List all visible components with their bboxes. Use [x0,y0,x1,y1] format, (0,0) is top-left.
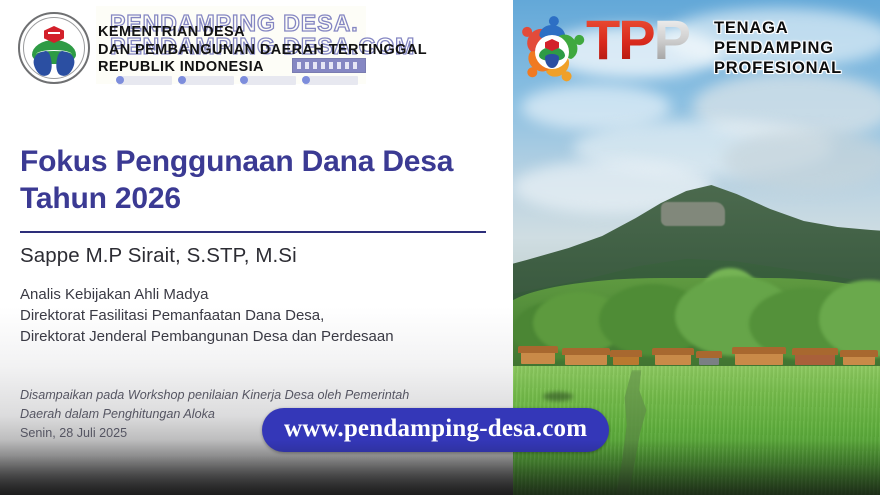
tpp-tagline-line-3: PROFESIONAL [714,58,842,78]
house [795,354,835,365]
field-patch [543,392,573,401]
title-block: Fokus Penggunaan Dana Desa Tahun 2026 Sa… [20,143,490,347]
footnote-suffix: penilaian Kinerja Desa oleh Pemerintah [185,388,410,402]
house [699,357,719,365]
house [521,352,555,364]
watermark-nav-chip [304,76,358,85]
tpp-people-circle-icon [518,18,586,86]
presenter-name: Sappe M.P Sirait, S.STP, M.Si [20,244,490,268]
presentation-slide: PENDAMPING DESA. PENDAMPING DESA.COM [0,0,880,495]
house [843,356,875,365]
ministry-line-2: DAN PEMBANGUNAN DAERAH TERTINGGAL [98,42,498,60]
ministry-name: KEMENTRIAN DESA DAN PEMBANGUNAN DAERAH T… [98,24,498,77]
website-url-banner[interactable]: www.pendamping-desa.com [262,408,609,452]
watermark-nav-row [118,76,358,85]
footnote-prefix: Disampaikan pada [20,388,128,402]
tpp-acronym-tp: TP [586,8,654,71]
watermark-nav-chip [118,76,172,85]
tpp-tagline-line-1: TENAGA [714,18,842,38]
watermark-nav-chip [180,76,234,85]
presenter-role: Analis Kebijakan Ahli Madya Direktorat F… [20,284,490,347]
house [565,354,607,365]
role-line-1: Analis Kebijakan Ahli Madya [20,284,490,305]
title-divider [20,231,486,233]
tpp-tagline-line-2: PENDAMPING [714,38,842,58]
ministry-line-3: REPUBLIK INDONESIA [98,59,498,77]
house [655,354,691,365]
tpp-acronym: TPP [586,12,689,68]
footnote-line-1: Disampaikan pada Workshop penilaian Kine… [20,386,500,405]
house [613,356,639,365]
role-line-3: Direktorat Jenderal Pembangunan Desa dan… [20,326,490,347]
ministry-line-1: KEMENTRIAN DESA [98,24,498,42]
tpp-tagline: TENAGA PENDAMPING PROFESIONAL [714,18,842,78]
tpp-logo: TPP TENAGA PENDAMPING PROFESIONAL [518,8,863,90]
tpp-acronym-p: P [654,8,689,71]
house [735,353,783,365]
watermark-nav-chip [242,76,296,85]
role-line-2: Direktorat Fasilitasi Pemanfaatan Dana D… [20,305,490,326]
kemendesa-logo-icon [18,12,90,84]
cloud [723,130,880,190]
page-title: Fokus Penggunaan Dana Desa Tahun 2026 [20,143,490,217]
cliff-rock-face [661,202,725,226]
footnote-emphasis: Workshop [128,388,185,402]
